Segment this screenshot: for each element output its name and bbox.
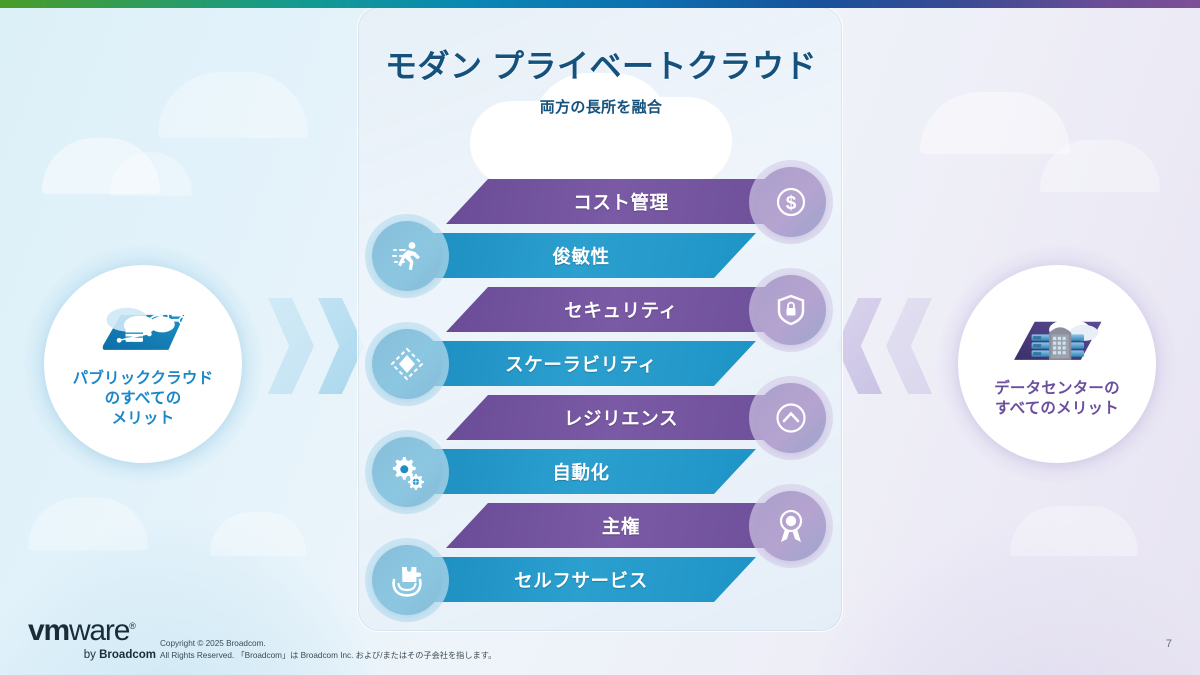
benefit-label: スケーラビリティ [505, 351, 657, 377]
page-subtitle: 両方の長所を融合 [358, 96, 843, 117]
slide-number: 7 [1166, 638, 1172, 650]
background-cloud-6 [920, 92, 1070, 154]
benefit-banner[interactable]: セルフサービス [406, 557, 756, 602]
ribbon-award-icon-badge[interactable] [756, 491, 826, 561]
ribbon-award-icon [771, 506, 811, 546]
copyright-line-1: Copyright © 2025 Broadcom. [160, 638, 496, 650]
logo-by: by [84, 649, 99, 661]
svg-text:$: $ [786, 193, 797, 214]
logo-byline: by Broadcom [28, 649, 156, 661]
data-center-circle[interactable]: データセンターの すべてのメリット [958, 265, 1156, 463]
benefit-label: セキュリティ [564, 297, 678, 323]
gears-icon [387, 452, 427, 492]
benefit-label: 自動化 [552, 459, 609, 485]
runner-icon [387, 236, 427, 276]
data-center-label-line2: すべてのメリット [994, 399, 1120, 419]
background-cloud-5 [210, 512, 306, 556]
panel-title-block: モダン プライベートクラウド 両方の長所を融合 [358, 41, 843, 117]
vmware-wordmark: vmware® [28, 616, 156, 646]
public-cloud-label-line1: パブリッククラウド [73, 369, 214, 389]
logo-ware: ware [69, 614, 129, 647]
chevron-up-circle-icon [771, 398, 811, 438]
gears-icon-badge[interactable] [372, 437, 442, 507]
benefit-banner[interactable]: 俊敏性 [406, 233, 756, 278]
shield-lock-icon [771, 290, 811, 330]
background-cloud-8 [1010, 506, 1138, 556]
background-cloud-4 [28, 498, 148, 550]
scale-diamond-icon-badge[interactable] [372, 329, 442, 399]
chevron-up-circle-icon-badge[interactable] [756, 383, 826, 453]
hands-puzzle-icon-badge[interactable] [372, 545, 442, 615]
logo-registered-mark: ® [129, 621, 134, 631]
benefit-banner[interactable]: セキュリティ [446, 287, 796, 332]
benefit-label: コスト管理 [573, 189, 669, 215]
runner-icon-badge[interactable] [372, 221, 442, 291]
top-gradient-bar [0, 0, 1200, 8]
chevron-left-icon [886, 298, 932, 394]
data-center-label: データセンターの すべてのメリット [994, 379, 1120, 419]
scale-diamond-icon [387, 344, 427, 384]
hands-puzzle-icon [387, 560, 427, 600]
copyright-line-2: All Rights Reserved. 「Broadcom」は Broadco… [160, 650, 496, 662]
slide-canvas: パブリッククラウド のすべての メリット [0, 0, 1200, 675]
data-center-icon [1009, 309, 1105, 371]
benefit-label: 主権 [602, 513, 640, 539]
arrow-group-right [836, 298, 932, 394]
benefit-label: 俊敏性 [552, 243, 609, 269]
shield-lock-icon-badge[interactable] [756, 275, 826, 345]
page-title: モダン プライベートクラウド [358, 41, 843, 87]
background-cloud-3 [158, 72, 308, 138]
logo-broadcom: Broadcom [99, 649, 156, 661]
benefit-banner[interactable]: レジリエンス [446, 395, 796, 440]
benefit-list: コスト管理 $ 俊敏性 [358, 175, 843, 607]
arrow-group-left [268, 298, 364, 394]
chevron-right-icon [268, 298, 314, 394]
public-cloud-icon [95, 299, 191, 361]
public-cloud-circle[interactable]: パブリッククラウド のすべての メリット [44, 265, 242, 463]
public-cloud-label: パブリッククラウド のすべての メリット [73, 369, 214, 428]
dollar-icon-badge[interactable]: $ [756, 167, 826, 237]
benefit-label: レジリエンス [564, 405, 678, 431]
benefit-banner[interactable]: 主権 [446, 503, 796, 548]
public-cloud-label-line3: メリット [73, 409, 214, 429]
benefit-label: セルフサービス [514, 567, 648, 593]
data-center-label-line1: データセンターの [994, 379, 1120, 399]
public-cloud-label-line2: のすべての [73, 389, 214, 409]
benefit-banner[interactable]: コスト管理 [446, 179, 796, 224]
dollar-icon: $ [771, 182, 811, 222]
benefit-banner[interactable]: スケーラビリティ [406, 341, 756, 386]
copyright-notice: Copyright © 2025 Broadcom. All Rights Re… [160, 638, 496, 663]
vmware-logo: vmware® by Broadcom [28, 616, 156, 661]
benefit-banner[interactable]: 自動化 [406, 449, 756, 494]
private-cloud-panel: モダン プライベートクラウド 両方の長所を融合 コスト管理 $ [357, 6, 843, 632]
logo-vm: vm [28, 614, 69, 647]
